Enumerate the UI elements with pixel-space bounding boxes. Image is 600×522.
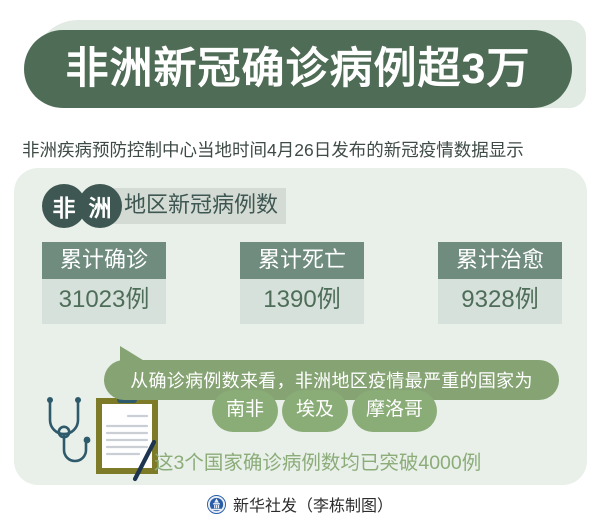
stat-value-deaths: 1390例 bbox=[240, 279, 364, 323]
country-pill-south-africa: 南非 bbox=[212, 390, 278, 432]
stats-row: 累计确诊 31023例 累计死亡 1390例 累计治愈 9328例 bbox=[42, 242, 562, 324]
main-panel: 非 洲 地区新冠病例数 累计确诊 31023例 累计死亡 1390例 累计治愈 … bbox=[14, 168, 587, 485]
panel-note-text: 这3个国家确诊病例数均已突破4000例 bbox=[154, 446, 481, 475]
country-pill-egypt: 埃及 bbox=[282, 390, 348, 432]
country-pill-row: 南非 埃及 摩洛哥 bbox=[212, 390, 437, 432]
footer-credit-text: 新华社发（李栋制图） bbox=[233, 492, 393, 516]
bubble-tail bbox=[120, 346, 146, 362]
stat-value-recovered: 9328例 bbox=[438, 279, 562, 323]
stat-card-confirmed: 累计确诊 31023例 bbox=[42, 242, 166, 324]
title-pill: 非洲新冠确诊病例超3万 bbox=[24, 30, 572, 108]
section-heading-label: 地区新冠病例数 bbox=[112, 188, 286, 223]
xinhua-logo-icon bbox=[207, 495, 226, 514]
subtitle-text: 非洲疾病预防控制中心当地时间4月26日发布的新冠疫情数据显示 bbox=[22, 140, 582, 161]
country-pill-morocco: 摩洛哥 bbox=[352, 390, 437, 432]
page-title: 非洲新冠确诊病例超3万 bbox=[66, 48, 531, 91]
stat-card-deaths: 累计死亡 1390例 bbox=[240, 242, 364, 324]
section-heading: 非 洲 地区新冠病例数 bbox=[42, 184, 286, 228]
stat-value-confirmed: 31023例 bbox=[42, 279, 166, 323]
footer: 新华社发（李栋制图） bbox=[0, 492, 600, 516]
title-banner: 非洲新冠确诊病例超3万 bbox=[0, 8, 600, 118]
section-circle-char-2: 洲 bbox=[78, 184, 122, 228]
stat-card-recovered: 累计治愈 9328例 bbox=[438, 242, 562, 324]
stat-label-recovered: 累计治愈 bbox=[438, 242, 562, 279]
stat-label-deaths: 累计死亡 bbox=[240, 242, 364, 279]
stat-label-confirmed: 累计确诊 bbox=[42, 242, 166, 279]
